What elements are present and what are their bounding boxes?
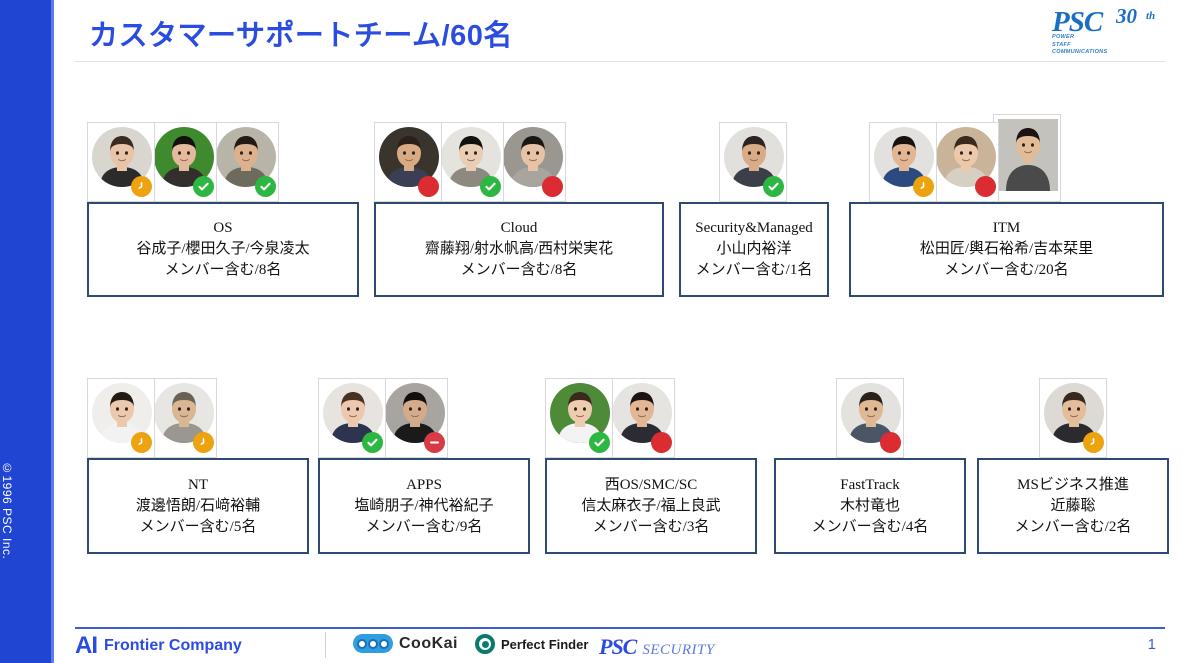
avatar [998,119,1058,191]
team-group-security-managed: Security&Managed小山内裕洋メンバー含む/1名 [679,202,829,297]
copyright-text: ©1996 PSC Inc. [0,363,54,663]
cookai-logo: CooKai [353,634,458,653]
team-member-count: メンバー含む/3名 [593,517,710,538]
team-box-cloud[interactable]: Cloud齋藤翔/射水帆高/西村栄実花メンバー含む/8名 [374,202,664,297]
status-badge-away [1083,432,1104,453]
avatar-strip-os [87,108,273,202]
avatar-card[interactable] [931,122,999,202]
avatar-strip-security-managed [719,108,781,202]
status-badge-available [763,176,784,197]
avatar-card[interactable] [87,378,155,458]
perfect-finder-icon [475,634,495,654]
psc-security-mark: PSC [599,634,636,660]
perfect-finder-logo: Perfect Finder [475,634,588,654]
status-badge-busy [418,176,439,197]
avatar-strip-cloud [374,108,560,202]
team-group-cloud: Cloud齋藤翔/射水帆高/西村栄実花メンバー含む/8名 [374,202,664,297]
perfect-finder-label: Perfect Finder [501,637,588,652]
status-badge-away [913,176,934,197]
status-badge-available [480,176,501,197]
cookai-dot-3 [379,639,389,649]
team-member-count: メンバー含む/5名 [140,517,257,538]
status-badge-dnd [424,432,445,453]
cookai-dot-2 [368,639,378,649]
team-members: 近藤聡 [1050,496,1095,517]
team-group-itm: ITM松田匠/輿石裕希/吉本栞里メンバー含む/20名 [849,202,1164,297]
team-box-nt[interactable]: NT渡邊悟朗/石﨑裕輔メンバー含む/5名 [87,458,309,554]
team-members: 塩崎朋子/神代裕紀子 [354,496,493,517]
avatar-card[interactable] [436,122,504,202]
avatar-card[interactable] [545,378,613,458]
team-member-count: メンバー含む/2名 [1015,517,1132,538]
page-number: 1 [1148,636,1156,653]
team-box-security-managed[interactable]: Security&Managed小山内裕洋メンバー含む/1名 [679,202,829,297]
avatar-card[interactable] [869,122,937,202]
status-badge-away [193,432,214,453]
team-member-count: メンバー含む/20名 [944,260,1068,281]
footer-separator [325,632,326,658]
team-member-count: メンバー含む/9名 [366,517,483,538]
team-members: 木村竜也 [840,496,900,517]
psc-security-logo: PSC SECURITY [599,634,715,660]
header-divider [75,61,1165,62]
slide-header: カスタマーサポートチーム/60名 PSC 30 th POWER STAFF C… [57,0,1182,66]
avatar-card[interactable] [149,122,217,202]
team-box-fasttrack[interactable]: FastTrack木村竜也メンバー含む/4名 [774,458,966,554]
psc-logo: PSC 30 th POWER STAFF COMMUNICATIONS [1042,4,1166,56]
psc-tagline-line2: STAFF [1052,42,1071,48]
status-badge-away [131,176,152,197]
psc-tagline-line3: COMMUNICATIONS [1052,49,1107,55]
team-members: 信太麻衣子/福上良武 [581,496,720,517]
psc-security-label: SECURITY [642,642,714,659]
team-members: 齋藤翔/射水帆高/西村栄実花 [425,239,613,260]
team-name: OS [213,218,232,239]
ai-frontier-logo: AI Frontier Company [75,634,242,658]
avatar-card[interactable] [318,378,386,458]
team-members: 谷成子/櫻田久子/今泉凌太 [136,239,309,260]
slide-footer: AI Frontier Company CooKai Perfect Finde… [57,630,1182,663]
team-name: FastTrack [840,475,899,496]
slide-canvas: カスタマーサポートチーム/60名 PSC 30 th POWER STAFF C… [57,0,1182,663]
avatar-card[interactable] [1039,378,1107,458]
avatar-card[interactable] [498,122,566,202]
footer-divider [75,627,1165,629]
status-badge-busy [542,176,563,197]
team-member-count: メンバー含む/4名 [812,517,929,538]
status-badge-available [255,176,276,197]
avatar-card[interactable] [374,122,442,202]
cookai-icon [353,634,393,653]
team-name: ITM [993,218,1021,239]
avatar-card[interactable] [719,122,787,202]
status-badge-busy [651,432,672,453]
avatar-strip-apps [318,364,442,458]
page-title: カスタマーサポートチーム/60名 [89,12,513,54]
avatar-card[interactable] [836,378,904,458]
status-badge-away [131,432,152,453]
cookai-label: CooKai [399,635,458,653]
cookai-dot-1 [357,639,367,649]
team-name: 西OS/SMC/SC [605,475,698,496]
avatar-strip-nt [87,364,211,458]
team-name: APPS [406,475,442,496]
status-badge-available [193,176,214,197]
left-blue-rail: ©1996 PSC Inc. [0,0,54,663]
psc-anniversary-suffix: th [1146,10,1155,22]
team-name: MSビジネス推進 [1017,475,1129,496]
ai-frontier-mark: AI [75,634,97,658]
status-badge-busy [880,432,901,453]
avatar-card[interactable] [380,378,448,458]
team-member-count: メンバー含む/8名 [461,260,578,281]
team-box-itm[interactable]: ITM松田匠/輿石裕希/吉本栞里メンバー含む/20名 [849,202,1164,297]
perfect-finder-inner-dot [482,641,489,648]
team-box-west-os-smc-sc[interactable]: 西OS/SMC/SC信太麻衣子/福上良武メンバー含む/3名 [545,458,757,554]
ai-frontier-label: Frontier Company [104,634,242,658]
avatar-card[interactable] [87,122,155,202]
team-box-os[interactable]: OS谷成子/櫻田久子/今泉凌太メンバー含む/8名 [87,202,359,297]
team-box-ms-business[interactable]: MSビジネス推進近藤聡メンバー含む/2名 [977,458,1169,554]
avatar-strip-ms-business [1039,364,1101,458]
team-members: 松田匠/輿石裕希/吉本栞里 [920,239,1093,260]
team-group-os: OS谷成子/櫻田久子/今泉凌太メンバー含む/8名 [87,202,359,297]
avatar-strip-itm [869,108,1055,202]
team-box-apps[interactable]: APPS塩崎朋子/神代裕紀子メンバー含む/9名 [318,458,530,554]
team-name: NT [188,475,208,496]
avatar-strip-fasttrack [836,364,898,458]
psc-tagline: POWER STAFF COMMUNICATIONS [1052,34,1107,57]
team-member-count: メンバー含む/8名 [165,260,282,281]
team-name: Security&Managed [695,218,812,239]
team-group-ms-business: MSビジネス推進近藤聡メンバー含む/2名 [977,458,1169,554]
team-group-apps: APPS塩崎朋子/神代裕紀子メンバー含む/9名 [318,458,530,554]
avatar-card[interactable] [211,122,279,202]
psc-tagline-line1: POWER [1052,34,1074,40]
avatar-portrait [998,119,1058,191]
status-badge-available [589,432,610,453]
avatar-card[interactable] [993,114,1061,202]
team-group-west-os-smc-sc: 西OS/SMC/SC信太麻衣子/福上良武メンバー含む/3名 [545,458,757,554]
avatar-card[interactable] [149,378,217,458]
team-name: Cloud [501,218,538,239]
avatar-card[interactable] [607,378,675,458]
status-badge-busy [975,176,996,197]
team-group-fasttrack: FastTrack木村竜也メンバー含む/4名 [774,458,966,554]
avatar-strip-west-os-smc-sc [545,364,669,458]
team-members: 小山内裕洋 [716,239,791,260]
psc-anniversary-number: 30 [1116,4,1137,29]
team-members: 渡邊悟朗/石﨑裕輔 [136,496,260,517]
status-badge-available [362,432,383,453]
team-member-count: メンバー含む/1名 [696,260,813,281]
team-group-nt: NT渡邊悟朗/石﨑裕輔メンバー含む/5名 [87,458,309,554]
